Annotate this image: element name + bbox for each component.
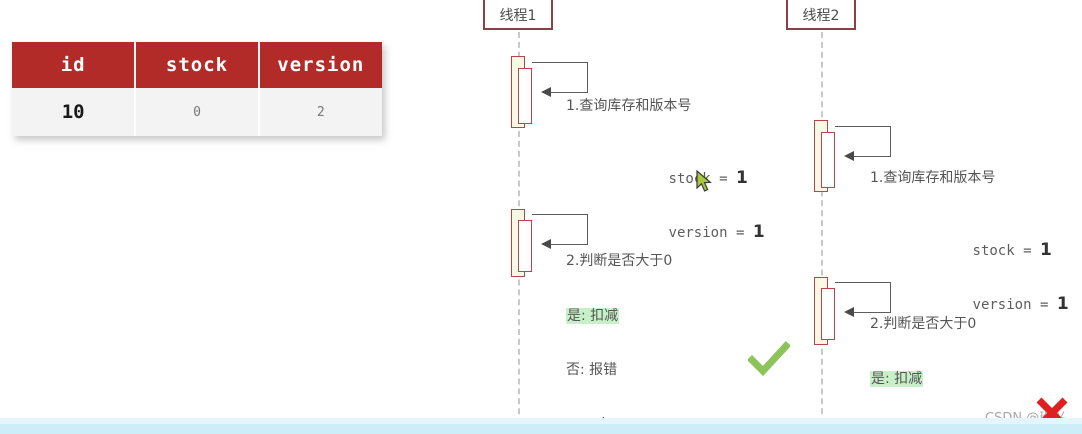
note-title-thread1-step2: 2.判断是否大于0	[566, 252, 777, 270]
note-yes-label-thread2: 是: 扣减	[870, 371, 923, 387]
note-title-thread2-step1: 1.查询库存和版本号	[870, 169, 1069, 187]
note-stock-value-thread2: 1	[1040, 240, 1052, 260]
note-title-thread2-step2: 2.判断是否大于0	[870, 315, 1081, 333]
table-header-row: id stock version	[12, 42, 382, 88]
note-no-label-thread1: 否: 报错	[566, 362, 617, 378]
activation-bar-inner-thread2-step2	[821, 288, 835, 340]
lane-label-thread2: 线程2	[803, 8, 840, 24]
bottom-band	[0, 422, 1082, 434]
note-title-thread1-step1: 1.查询库存和版本号	[566, 97, 765, 115]
column-header-version: version	[259, 42, 382, 88]
cell-id: 10	[12, 88, 135, 136]
column-header-id: id	[12, 42, 135, 88]
lifeline-thread2	[821, 32, 823, 434]
cell-stock: 0	[135, 88, 258, 136]
column-header-stock: stock	[135, 42, 258, 88]
activation-bar-inner-thread1-step2	[518, 220, 532, 272]
lane-header-thread1: 线程1	[483, 0, 553, 30]
stock-version-table: id stock version 10 0 2	[12, 42, 382, 136]
stock-table-container: id stock version 10 0 2	[12, 42, 382, 136]
cell-version: 2	[259, 88, 382, 136]
note-stock-label-thread2: stock =	[973, 243, 1040, 259]
screenshot-root: id stock version 10 0 2 线程1 1.查询库存	[0, 0, 1082, 434]
note-yes-label-thread1: 是: 扣减	[566, 308, 619, 324]
mouse-cursor	[696, 170, 714, 194]
lane-label-thread1: 线程1	[500, 8, 537, 24]
activation-bar-inner-thread1-step1	[518, 68, 532, 124]
note-thread1-step2: 2.判断是否大于0 是: 扣减 否: 报错 set stock = stock …	[566, 216, 777, 434]
table-row: 10 0 2	[12, 88, 382, 136]
lane-header-thread2: 线程2	[786, 0, 856, 30]
activation-bar-inner-thread2-step1	[821, 132, 835, 188]
note-stock-value-thread1: 1	[736, 168, 748, 188]
check-icon	[748, 341, 790, 377]
